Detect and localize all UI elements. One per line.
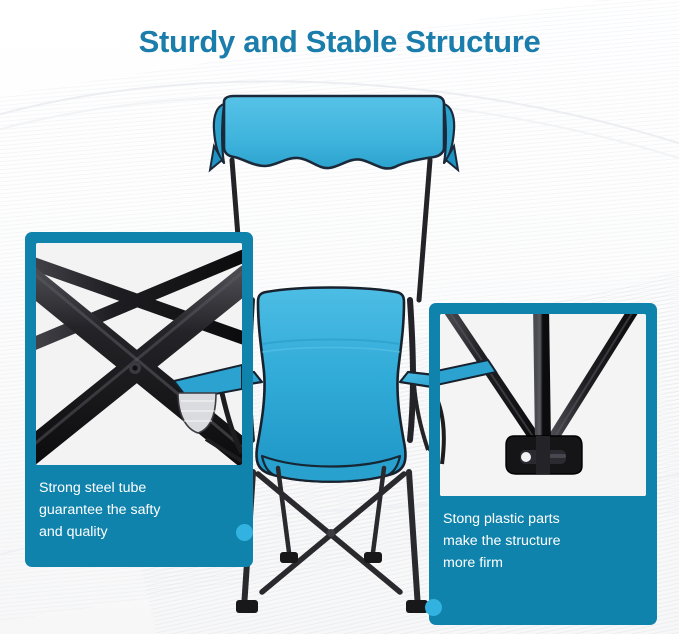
left-panel-caption: Strong steel tube guarantee the safty an… — [39, 477, 243, 543]
left-detail-panel: Strong steel tube guarantee the safty an… — [25, 232, 253, 567]
steel-tube-cross-joint-icon — [36, 243, 242, 465]
right-panel-caption: Stong plastic parts make the structure m… — [443, 508, 647, 574]
caption-line: Strong steel tube — [39, 477, 243, 499]
page-title: Sturdy and Stable Structure — [0, 24, 679, 60]
right-panel-connector-dot — [425, 599, 442, 616]
left-panel-connector-dot — [236, 524, 253, 541]
steel-tube-photo — [36, 243, 242, 465]
caption-line: and quality — [39, 521, 243, 543]
right-detail-panel: Stong plastic parts make the structure m… — [429, 303, 657, 625]
plastic-connector-photo — [440, 314, 646, 496]
caption-line: more firm — [443, 552, 647, 574]
caption-line: guarantee the safty — [39, 499, 243, 521]
plastic-leg-connector-icon — [440, 314, 646, 496]
caption-line: Stong plastic parts — [443, 508, 647, 530]
infographic-canvas: Sturdy and Stable Structure — [0, 0, 679, 634]
caption-line: make the structure — [443, 530, 647, 552]
